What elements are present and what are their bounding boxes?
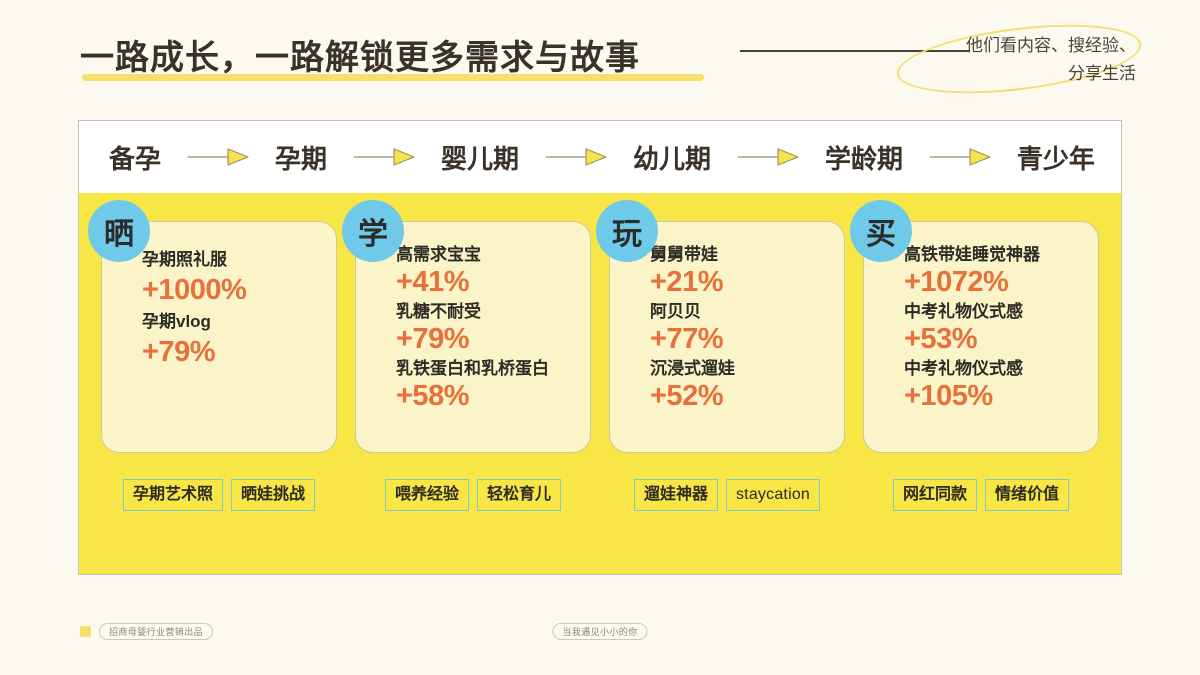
arrow-right-icon xyxy=(186,146,250,168)
card-badge-buy: 买 xyxy=(850,200,912,262)
stat-label: 沉浸式遛娃 xyxy=(650,358,830,380)
insight-card-buy: 买 高铁带娃睡觉神器 +1072% 中考礼物仪式感 +53% 中考礼物仪式感 +… xyxy=(863,221,1099,453)
stat-label: 舅舅带娃 xyxy=(650,244,830,266)
tag-pill[interactable]: 喂养经验 xyxy=(385,479,469,511)
stage-item-1: 孕期 xyxy=(275,139,327,176)
insight-card-share: 晒 孕期照礼服 +1000% 孕期vlog +79% xyxy=(101,221,337,453)
stat-item: 高铁带娃睡觉神器 +1072% xyxy=(904,244,1084,299)
tag-group-buy: 网红同款 情绪价值 xyxy=(863,479,1099,511)
stat-label: 中考礼物仪式感 xyxy=(904,358,1084,380)
yellow-content-area: 晒 孕期照礼服 +1000% 孕期vlog +79% 学 高需求宝宝 +41% xyxy=(79,193,1121,574)
tag-pill[interactable]: 遛娃神器 xyxy=(634,479,718,511)
card-badge-play: 玩 xyxy=(596,200,658,262)
stage-item-2: 婴儿期 xyxy=(441,139,519,176)
stat-label: 高需求宝宝 xyxy=(396,244,576,266)
stat-value: +58% xyxy=(396,380,576,413)
stat-item: 乳铁蛋白和乳桥蛋白 +58% xyxy=(396,358,576,413)
stage-item-5: 青少年 xyxy=(1017,139,1095,176)
stage-item-4: 学龄期 xyxy=(825,139,903,176)
tag-pill[interactable]: 网红同款 xyxy=(893,479,977,511)
arrow-right-icon xyxy=(928,146,992,168)
stat-item: 阿贝贝 +77% xyxy=(650,301,830,356)
footer-brand-label: 招商母婴行业营销出品 xyxy=(99,623,213,640)
insight-card-learn: 学 高需求宝宝 +41% 乳糖不耐受 +79% 乳铁蛋白和乳桥蛋白 +58% xyxy=(355,221,591,453)
stat-value: +105% xyxy=(904,380,1084,413)
tag-pill[interactable]: 轻松育儿 xyxy=(477,479,561,511)
card-badge-share: 晒 xyxy=(88,200,150,262)
stat-label: 乳铁蛋白和乳桥蛋白 xyxy=(396,358,576,380)
square-marker-icon xyxy=(80,626,91,637)
card-badge-learn: 学 xyxy=(342,200,404,262)
stat-item: 中考礼物仪式感 +53% xyxy=(904,301,1084,356)
footer-center-label: 当我遇见小小的你 xyxy=(552,623,647,640)
subtitle-line-1: 他们看内容、搜经验、 xyxy=(890,32,1136,60)
footer-brand: 招商母婴行业营销出品 xyxy=(80,623,213,640)
tag-row: 孕期艺术照 晒娃挑战 喂养经验 轻松育儿 遛娃神器 staycation 网红同… xyxy=(101,479,1099,511)
tag-pill[interactable]: 孕期艺术照 xyxy=(123,479,223,511)
stat-item: 沉浸式遛娃 +52% xyxy=(650,358,830,413)
stat-label: 孕期照礼服 xyxy=(142,248,322,272)
stat-item: 孕期vlog +79% xyxy=(142,310,322,370)
tag-pill[interactable]: staycation xyxy=(726,479,820,511)
stat-item: 高需求宝宝 +41% xyxy=(396,244,576,299)
stat-label: 乳糖不耐受 xyxy=(396,301,576,323)
stat-value: +79% xyxy=(142,334,322,370)
insight-card-play: 玩 舅舅带娃 +21% 阿贝贝 +77% 沉浸式遛娃 +52% xyxy=(609,221,845,453)
stage-item-0: 备孕 xyxy=(109,139,161,176)
stat-value: +41% xyxy=(396,266,576,299)
subtitle-text: 他们看内容、搜经验、 分享生活 xyxy=(890,26,1140,88)
stat-value: +1000% xyxy=(142,272,322,308)
stat-value: +79% xyxy=(396,323,576,356)
stat-label: 中考礼物仪式感 xyxy=(904,301,1084,323)
footer-center-block: 当我遇见小小的你 xyxy=(552,623,647,640)
tag-group-share: 孕期艺术照 晒娃挑战 xyxy=(101,479,337,511)
tag-pill[interactable]: 情绪价值 xyxy=(985,479,1069,511)
stat-item: 孕期照礼服 +1000% xyxy=(142,248,322,308)
page-footer: 招商母婴行业营销出品 当我遇见小小的你 xyxy=(78,623,1122,645)
stage-timeline: 备孕 孕期 婴儿期 幼儿期 学龄期 青少年 xyxy=(79,121,1121,193)
stage-item-3: 幼儿期 xyxy=(633,139,711,176)
subtitle-line-2: 分享生活 xyxy=(890,60,1136,88)
stat-value: +53% xyxy=(904,323,1084,356)
stat-label: 阿贝贝 xyxy=(650,301,830,323)
tag-group-play: 遛娃神器 staycation xyxy=(609,479,845,511)
stat-value: +52% xyxy=(650,380,830,413)
arrow-right-icon xyxy=(544,146,608,168)
tag-group-learn: 喂养经验 轻松育儿 xyxy=(355,479,591,511)
page-title: 一路成长，一路解锁更多需求与故事 xyxy=(80,30,640,79)
page-header: 一路成长，一路解锁更多需求与故事 他们看内容、搜经验、 分享生活 xyxy=(80,26,1140,96)
stat-item: 乳糖不耐受 +79% xyxy=(396,301,576,356)
lifecycle-panel: 备孕 孕期 婴儿期 幼儿期 学龄期 青少年 晒 孕期照礼服 xyxy=(78,120,1122,575)
stat-value: +77% xyxy=(650,323,830,356)
tag-pill[interactable]: 晒娃挑战 xyxy=(231,479,315,511)
stat-label: 高铁带娃睡觉神器 xyxy=(904,244,1084,266)
stat-item: 舅舅带娃 +21% xyxy=(650,244,830,299)
arrow-right-icon xyxy=(352,146,416,168)
title-block: 一路成长，一路解锁更多需求与故事 xyxy=(80,30,640,79)
stat-value: +21% xyxy=(650,266,830,299)
stat-value: +1072% xyxy=(904,266,1084,299)
stat-label: 孕期vlog xyxy=(142,310,322,334)
insight-card-row: 晒 孕期照礼服 +1000% 孕期vlog +79% 学 高需求宝宝 +41% xyxy=(101,209,1099,453)
stat-item: 中考礼物仪式感 +105% xyxy=(904,358,1084,413)
arrow-right-icon xyxy=(736,146,800,168)
subtitle-block: 他们看内容、搜经验、 分享生活 xyxy=(890,26,1140,94)
